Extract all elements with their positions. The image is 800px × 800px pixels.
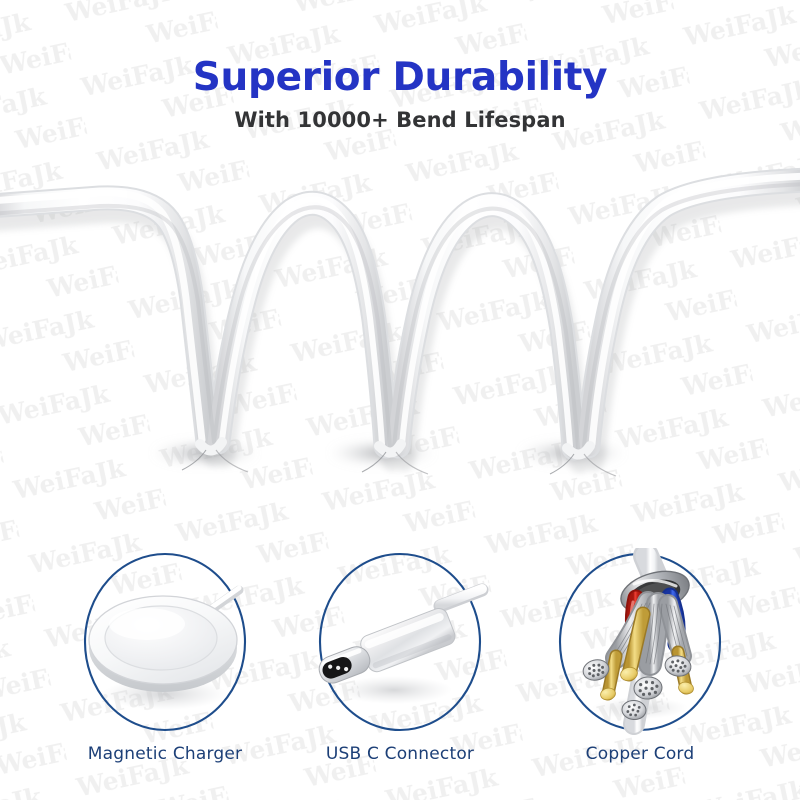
copper-cord-badge bbox=[530, 548, 750, 736]
feature-label-magnetic-charger: Magnetic Charger bbox=[55, 744, 275, 764]
feature-label-usb-c-connector: USB C Connector bbox=[290, 744, 510, 764]
product-feature-image: WeiFaJk WeiFaJk Superior Durability With… bbox=[0, 0, 800, 800]
header-block: Superior Durability With 10000+ Bend Lif… bbox=[0, 58, 800, 132]
usb-c-cable bbox=[440, 589, 482, 606]
feature-callout-row: Magnetic Charger bbox=[0, 548, 800, 800]
feature-magnetic-charger[interactable]: Magnetic Charger bbox=[55, 548, 275, 800]
page-subtitle: With 10000+ Bend Lifespan bbox=[0, 109, 800, 132]
feature-copper-cord[interactable]: Copper Cord bbox=[530, 548, 750, 800]
feature-usb-c-connector[interactable]: USB C Connector bbox=[290, 548, 510, 800]
usb-c-connector-badge bbox=[290, 548, 510, 736]
feature-label-copper-cord: Copper Cord bbox=[530, 744, 750, 764]
magnetic-charger-badge bbox=[55, 548, 275, 736]
page-title: Superior Durability bbox=[0, 58, 800, 99]
bend-test-cable-illustration bbox=[0, 150, 800, 500]
